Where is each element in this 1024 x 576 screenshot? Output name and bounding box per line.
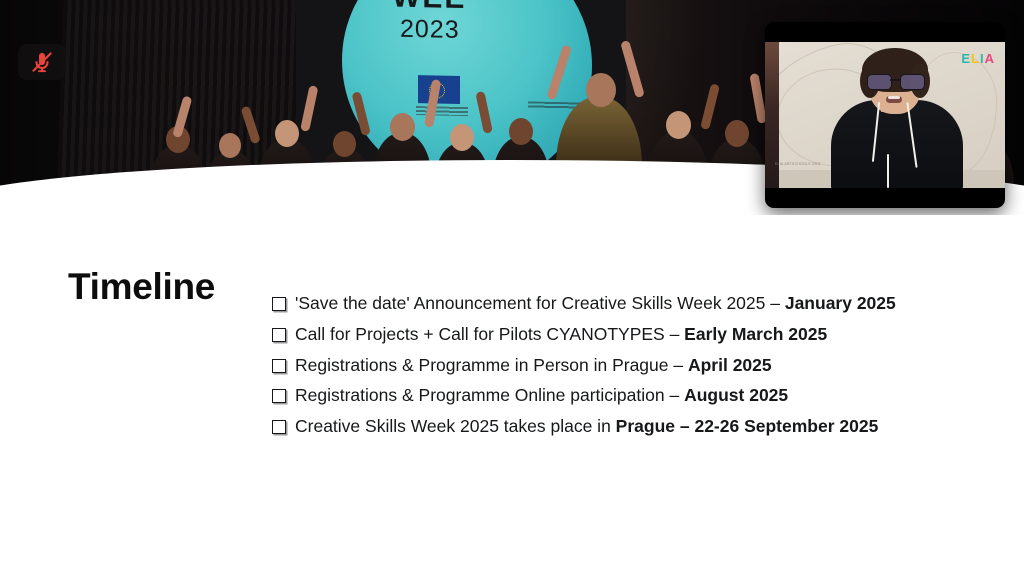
presentation-screen: WEE 2023	[0, 0, 1024, 576]
checkbox-icon	[272, 420, 286, 434]
earphone-cable-main	[887, 154, 889, 188]
list-item-text: Creative Skills Week 2025 takes place in…	[295, 416, 878, 436]
microphone-muted-icon[interactable]	[18, 44, 66, 80]
slide-content: Timeline 'Save the date' Announcement fo…	[0, 215, 1024, 576]
list-item-text: Call for Projects + Call for Pilots CYAN…	[295, 324, 827, 344]
list-item: Call for Projects + Call for Pilots CYAN…	[272, 324, 972, 344]
banner-word: WEE	[392, 0, 466, 16]
list-item: Creative Skills Week 2025 takes place in…	[272, 416, 972, 436]
webcam-panel[interactable]: ELIA ELIA ARTSCHOOLS.ORG	[765, 22, 1005, 208]
checkbox-icon	[272, 389, 286, 403]
list-item: Registrations & Programme in Person in P…	[272, 355, 972, 375]
banner-year: 2023	[400, 15, 460, 45]
elia-logo: ELIA	[961, 52, 995, 65]
elia-logo-l: L	[971, 51, 980, 66]
checkbox-icon	[272, 328, 286, 342]
elia-logo-e: E	[961, 51, 971, 66]
checkbox-icon	[272, 359, 286, 373]
timeline-bullet-list: 'Save the date' Announcement for Creativ…	[272, 293, 972, 447]
checkbox-icon	[272, 297, 286, 311]
list-item: 'Save the date' Announcement for Creativ…	[272, 293, 972, 313]
list-item-text: 'Save the date' Announcement for Creativ…	[295, 293, 896, 313]
elia-logo-a: A	[985, 51, 995, 66]
list-item-text: Registrations & Programme Online partici…	[295, 385, 788, 405]
list-item: Registrations & Programme Online partici…	[272, 385, 972, 405]
list-item-text: Registrations & Programme in Person in P…	[295, 355, 772, 375]
room-edge	[765, 42, 779, 188]
video-watermark: ELIA ARTSCHOOLS.ORG	[775, 162, 821, 166]
glasses-icon	[867, 74, 925, 88]
speaker-mouth	[886, 96, 902, 103]
slide-title: Timeline	[68, 266, 215, 308]
webcam-video: ELIA ELIA ARTSCHOOLS.ORG	[765, 42, 1005, 188]
